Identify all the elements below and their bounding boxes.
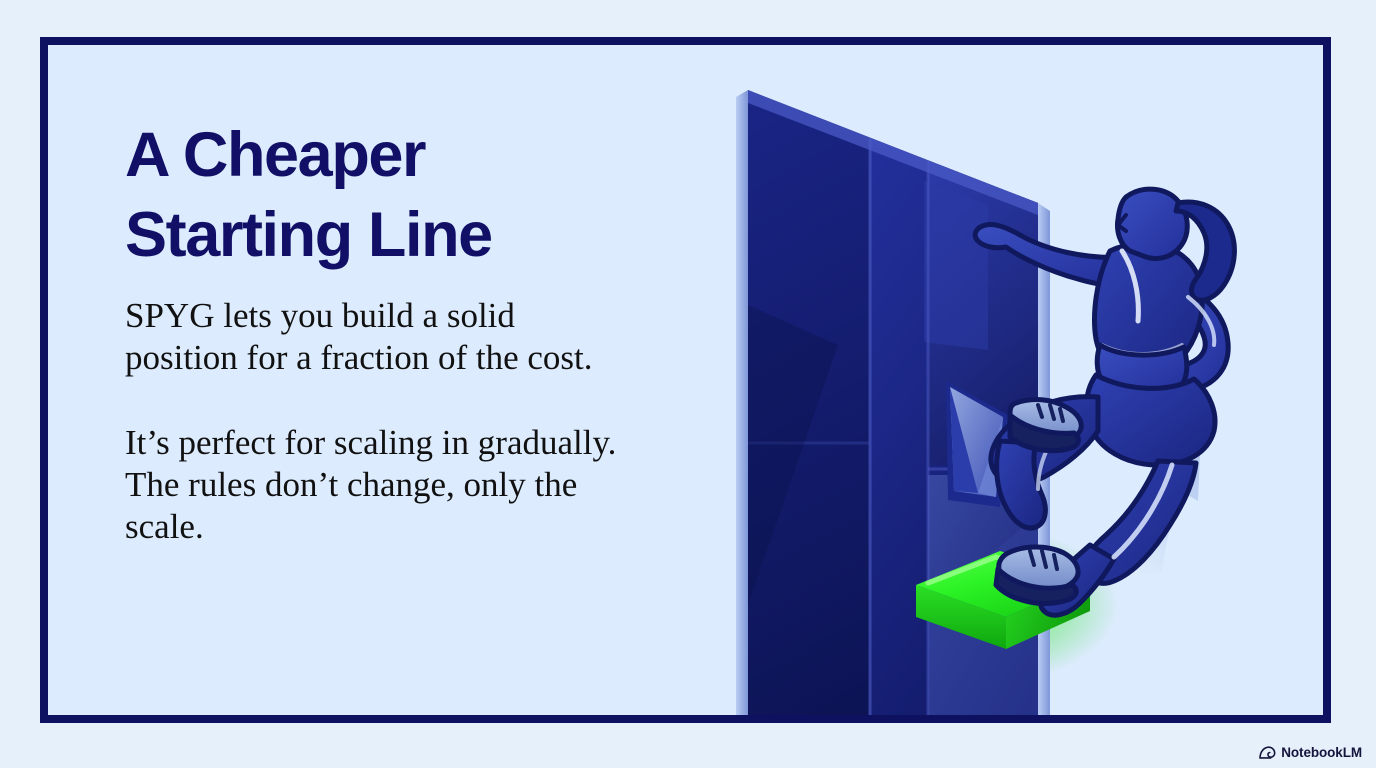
title-line-2: Starting Line bbox=[125, 200, 492, 270]
slide-frame: A CheaperStarting Line SPYG lets you bui… bbox=[40, 37, 1331, 723]
climber-shoe-upper bbox=[1010, 400, 1081, 451]
wall-left-edge bbox=[736, 90, 748, 715]
climber-shoe-lower bbox=[996, 547, 1078, 603]
page-title: A CheaperStarting Line bbox=[125, 115, 635, 275]
climber-figure bbox=[975, 189, 1234, 615]
notebooklm-spiral-icon bbox=[1259, 746, 1276, 759]
slide-canvas: A CheaperStarting Line SPYG lets you bui… bbox=[0, 0, 1376, 768]
notebooklm-label: NotebookLM bbox=[1281, 745, 1362, 760]
notebooklm-watermark: NotebookLM bbox=[1259, 745, 1362, 760]
wall-inset-panel bbox=[924, 181, 988, 350]
text-column: A CheaperStarting Line SPYG lets you bui… bbox=[125, 115, 635, 547]
title-line-1: A Cheaper bbox=[125, 120, 425, 190]
body-paragraph-2: It’s perfect for scaling in gradually. T… bbox=[125, 422, 635, 547]
body-paragraph-1: SPYG lets you build a solid position for… bbox=[125, 295, 635, 378]
climber-shorts bbox=[1087, 375, 1215, 465]
climber-head bbox=[1118, 189, 1188, 258]
